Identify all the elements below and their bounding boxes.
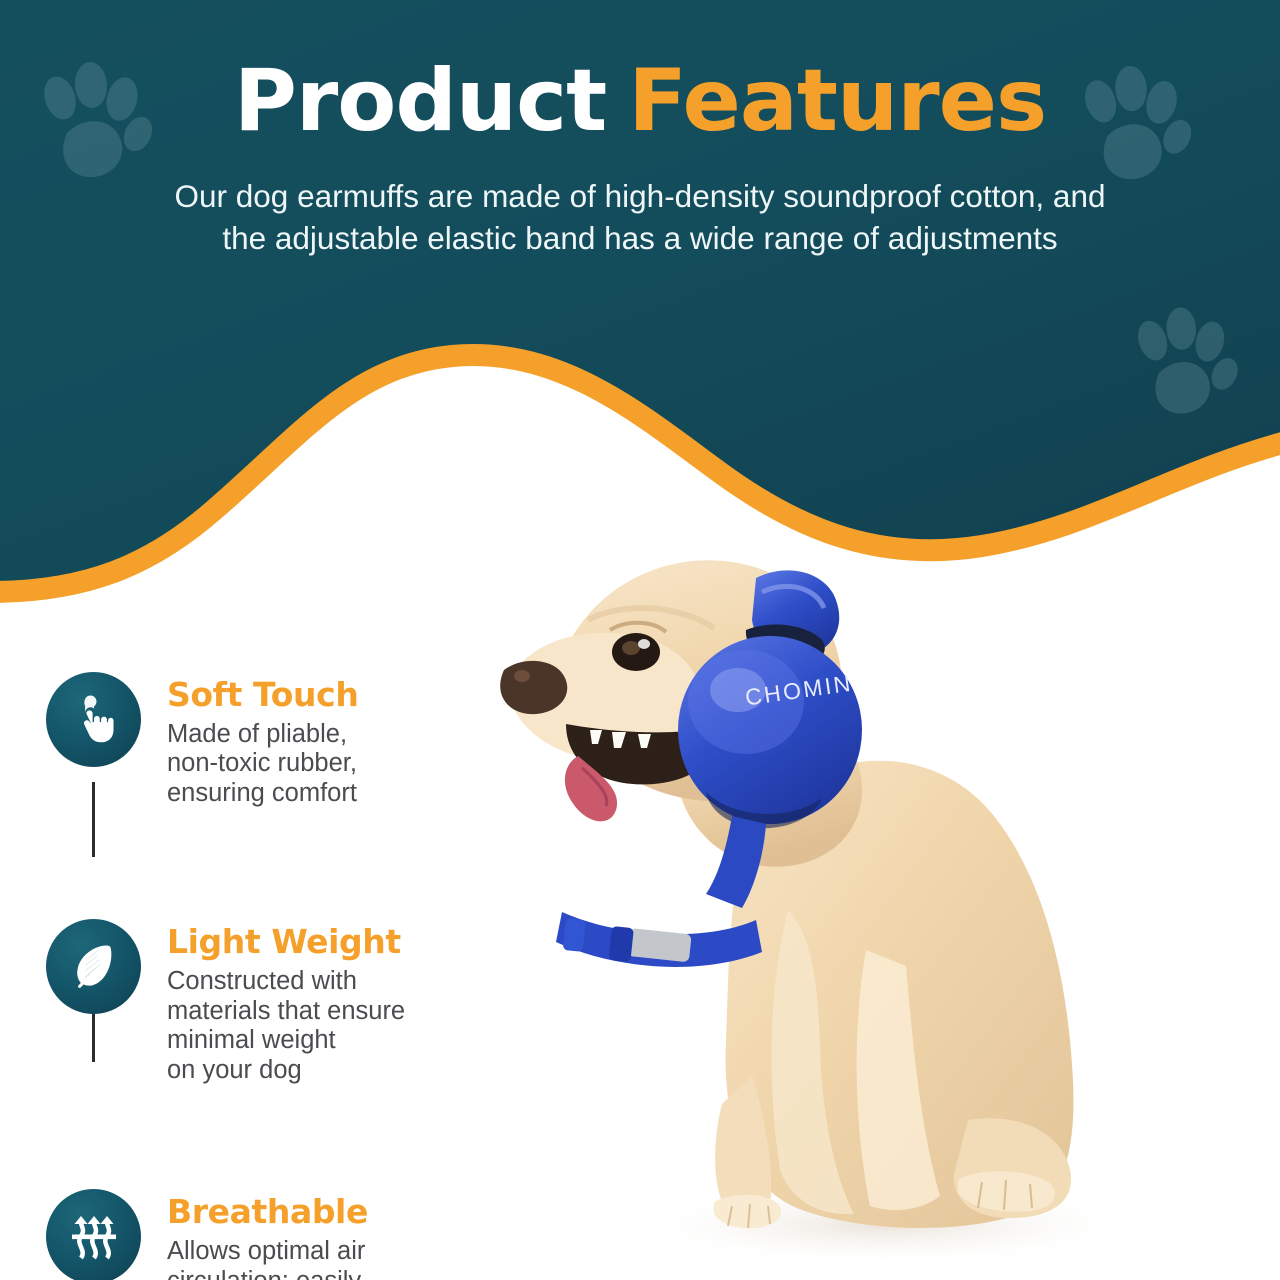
feature-description: Made of pliable, non-toxic rubber, ensur…	[167, 720, 358, 809]
desc-line: on your dog	[167, 1056, 405, 1086]
feature-title: Breathable	[167, 1195, 380, 1230]
feature-title: Light Weight	[167, 925, 405, 960]
desc-line: minimal weight	[167, 1026, 405, 1056]
feather-icon	[46, 919, 141, 1014]
infographic-canvas: ProductFeatures Our dog earmuffs are mad…	[0, 0, 1280, 1280]
feature-description: Constructed with materials that ensure m…	[167, 967, 405, 1086]
feature-item-light-weight[interactable]: Light Weight Constructed with materials …	[46, 919, 546, 1086]
desc-line: materials that ensure	[167, 997, 405, 1027]
desc-line: ensuring comfort	[167, 779, 358, 809]
hand-touch-icon	[46, 672, 141, 767]
feature-item-breathable[interactable]: Breathable Allows optimal air circulatio…	[46, 1189, 546, 1280]
golden-retriever-wearing-earmuffs: CHOMIN	[470, 480, 1260, 1280]
feature-text-breathable: Breathable Allows optimal air circulatio…	[167, 1189, 380, 1280]
feature-description: Allows optimal air circulation; easily m…	[167, 1237, 380, 1280]
desc-line: Made of pliable,	[167, 720, 358, 750]
feature-text-soft-touch: Soft Touch Made of pliable, non-toxic ru…	[167, 672, 358, 809]
airflow-icon	[46, 1189, 141, 1280]
feature-list: Soft Touch Made of pliable, non-toxic ru…	[46, 672, 546, 1280]
desc-line: non-toxic rubber,	[167, 749, 358, 779]
feature-item-soft-touch[interactable]: Soft Touch Made of pliable, non-toxic ru…	[46, 672, 546, 809]
desc-line: circulation; easily	[167, 1267, 380, 1280]
desc-line: Constructed with	[167, 967, 405, 997]
desc-line: Allows optimal air	[167, 1237, 380, 1267]
feature-title: Soft Touch	[167, 678, 358, 713]
feature-text-light-weight: Light Weight Constructed with materials …	[167, 919, 405, 1086]
